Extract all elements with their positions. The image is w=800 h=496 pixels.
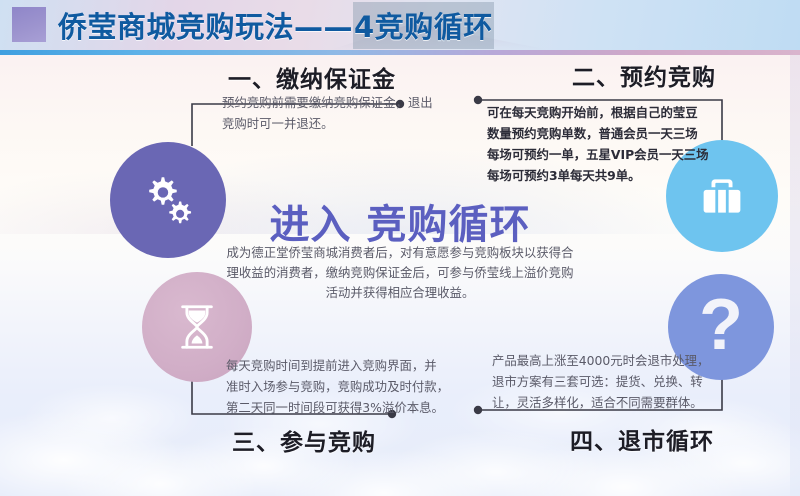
center-title-part-two: 竞购循环 [366, 202, 530, 248]
quadrant-one-line-1: 预约竞购前需要缴纳竞购保证金，退出 [222, 92, 433, 113]
center-paragraph: 成为德正堂侨莹商城消费者后，对有意愿参与竞购板块以获得合 理收益的消费者，缴纳竞… [0, 243, 800, 303]
connector-dot-two [474, 96, 482, 104]
center-title-part-one: 进入 [270, 202, 352, 248]
quadrant-three-line-2: 准时入场参与竞购，竞购成功及时付款， [226, 376, 449, 397]
slide-canvas: 侨莹商城竞购玩法——4竞购循环 [0, 0, 800, 496]
quadrant-four-line-1: 产品最高上涨至4000元时会退市处理， [492, 350, 709, 371]
quadrant-three-line-3: 第二天同一时间段可获得3%溢价本息。 [226, 397, 449, 418]
center-paragraph-line-2: 理收益的消费者，缴纳竞购保证金后，可参与侨莹线上溢价竞购 [0, 263, 800, 283]
quadrant-two-line-3: 每场可预约一单，五星VIP会员一天三场 [487, 144, 709, 165]
quadrant-two-line-1: 可在每天竞购开始前，根据自己的莹豆 [487, 102, 709, 123]
quadrant-four-body: 产品最高上涨至4000元时会退市处理， 退市方案有三套可选：提货、兑换、转 让，… [492, 350, 709, 413]
quadrant-four-heading: 四、退市循环 [570, 422, 714, 456]
quadrant-four-line-3: 让，灵活多样化，适合不同需要群体。 [492, 392, 709, 413]
center-paragraph-line-1: 成为德正堂侨莹商城消费者后，对有意愿参与竞购板块以获得合 [0, 243, 800, 263]
center-paragraph-line-3: 活动并获得相应合理收益。 [0, 283, 800, 303]
quadrant-one-line-2: 竞购时可一并退还。 [222, 113, 433, 134]
quadrant-three-line-1: 每天竞购时间到提前进入竞购界面，并 [226, 355, 449, 376]
quadrant-one-body: 预约竞购前需要缴纳竞购保证金，退出 竞购时可一并退还。 [222, 92, 433, 134]
quadrant-three-body: 每天竞购时间到提前进入竞购界面，并 准时入场参与竞购，竞购成功及时付款， 第二天… [226, 355, 449, 418]
quadrant-two-heading: 二、预约竞购 [572, 58, 716, 92]
hourglass-icon [170, 298, 224, 356]
quadrant-three-heading: 三、参与竞购 [232, 423, 376, 457]
connector-dot-four [474, 406, 482, 414]
center-title: 进入 竞购循环 [0, 192, 800, 250]
quadrant-two-line-4: 每场可预约3单每天共9单。 [487, 165, 709, 186]
quadrant-two-line-2: 数量预约竞购单数，普通会员一天三场 [487, 123, 709, 144]
quadrant-one-heading: 一、缴纳保证金 [228, 60, 396, 94]
quadrant-two-body: 可在每天竞购开始前，根据自己的莹豆 数量预约竞购单数，普通会员一天三场 每场可预… [487, 102, 709, 186]
quadrant-four-line-2: 退市方案有三套可选：提货、兑换、转 [492, 371, 709, 392]
